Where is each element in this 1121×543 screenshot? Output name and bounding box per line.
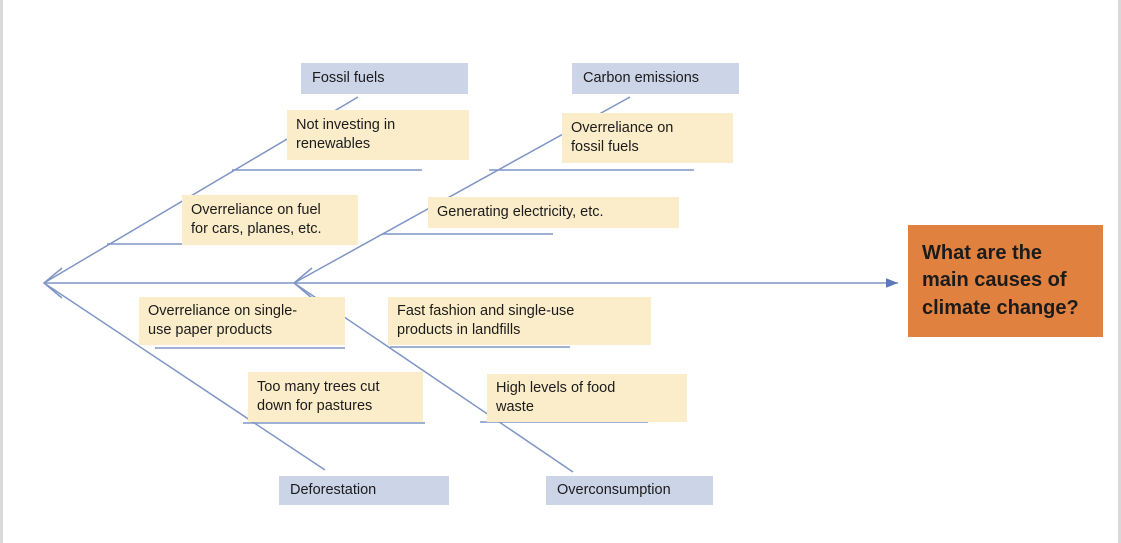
cause-label-generating-electricity: Generating electricity, etc.	[437, 203, 604, 222]
category-label-overconsumption: Overconsumption	[557, 481, 671, 500]
category-box-overconsumption[interactable]: Overconsumption	[546, 476, 713, 505]
cause-label-food-waste: High levels of food waste	[496, 379, 615, 416]
cause-box-overreliance-fuel-cars[interactable]: Overreliance on fuel for cars, planes, e…	[182, 195, 358, 245]
cause-box-generating-electricity[interactable]: Generating electricity, etc.	[428, 197, 679, 228]
fishbone-diagram-canvas: Fossil fuels Carbon emissions Deforestat…	[0, 0, 1121, 543]
cause-box-food-waste[interactable]: High levels of food waste	[487, 374, 687, 422]
cause-label-overreliance-fossil-fuels: Overreliance on fossil fuels	[571, 119, 673, 156]
cause-label-overreliance-fuel-cars: Overreliance on fuel for cars, planes, e…	[191, 201, 322, 238]
cause-box-single-use-paper[interactable]: Overreliance on single- use paper produc…	[139, 297, 345, 345]
cause-box-not-investing-renewables[interactable]: Not investing in renewables	[287, 110, 469, 160]
category-box-carbon-emissions[interactable]: Carbon emissions	[572, 63, 739, 94]
cause-box-fast-fashion-landfills[interactable]: Fast fashion and single-use products in …	[388, 297, 651, 345]
cause-label-not-investing-renewables: Not investing in renewables	[296, 116, 395, 153]
cause-box-trees-cut-pastures[interactable]: Too many trees cut down for pastures	[248, 372, 423, 422]
cause-label-fast-fashion-landfills: Fast fashion and single-use products in …	[397, 302, 574, 339]
category-box-fossil-fuels[interactable]: Fossil fuels	[301, 63, 468, 94]
effect-head-label: What are the main causes of climate chan…	[922, 240, 1079, 323]
category-label-carbon-emissions: Carbon emissions	[583, 69, 699, 88]
cause-box-overreliance-fossil-fuels[interactable]: Overreliance on fossil fuels	[562, 113, 733, 163]
cause-label-trees-cut-pastures: Too many trees cut down for pastures	[257, 378, 380, 415]
effect-head-box[interactable]: What are the main causes of climate chan…	[908, 225, 1103, 337]
category-label-fossil-fuels: Fossil fuels	[312, 69, 385, 88]
category-box-deforestation[interactable]: Deforestation	[279, 476, 449, 505]
cause-label-single-use-paper: Overreliance on single- use paper produc…	[148, 302, 297, 339]
category-label-deforestation: Deforestation	[290, 481, 376, 500]
